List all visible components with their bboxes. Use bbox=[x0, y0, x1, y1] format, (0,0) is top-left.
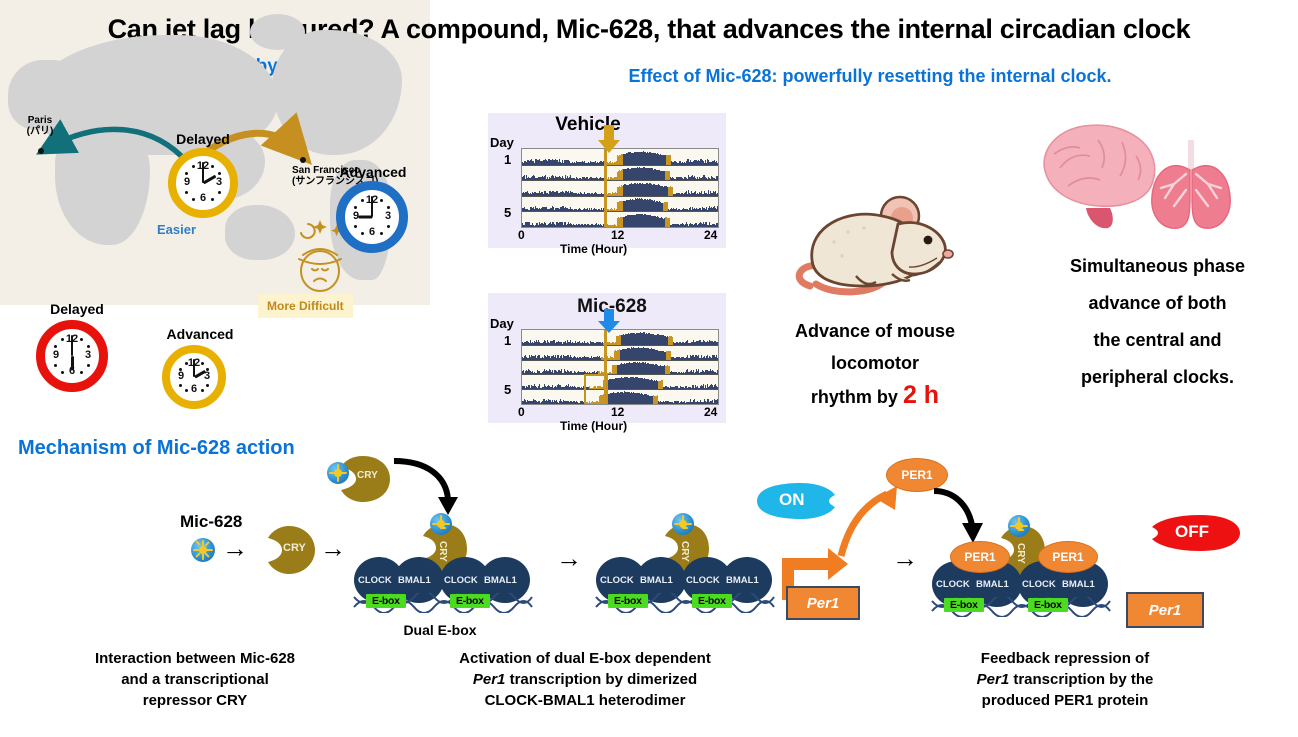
clock-label-1b: CLOCK bbox=[444, 575, 478, 586]
clock-minute-hand bbox=[371, 196, 374, 217]
organ-caption-line2: advance of both bbox=[1030, 285, 1285, 322]
ebox-3a: E-box bbox=[944, 598, 984, 612]
step-caption-3-gene: Per1 bbox=[977, 671, 1010, 688]
clock-numeral: 6 bbox=[187, 383, 201, 395]
mouse-caption: Advance of mouse locomotor rhythm by 2 h bbox=[750, 315, 1000, 413]
clock-tick bbox=[192, 198, 195, 201]
step-caption-3: Feedback repression of Per1 transcriptio… bbox=[900, 648, 1230, 711]
per1-protein-bound-right: PER1 bbox=[1038, 541, 1098, 573]
per1-gene-box-off: Per1 bbox=[1126, 592, 1204, 628]
clock-tick bbox=[87, 364, 90, 367]
step-caption-1-line1: Interaction between Mic-628 bbox=[30, 648, 360, 669]
actogram-day-row bbox=[522, 211, 718, 227]
easier-arc-label: Easier bbox=[157, 222, 196, 237]
actogram-plot-vehicle bbox=[521, 148, 719, 228]
ebox-1b: E-box bbox=[450, 594, 490, 608]
step-caption-2-line2-rest: transcription by dimerized bbox=[505, 671, 697, 688]
arrow-complex1-to-complex2: → bbox=[556, 545, 582, 571]
clock-state-3: Advanced bbox=[167, 326, 234, 342]
actogram-xtick-24-mic628: 24 bbox=[704, 405, 717, 419]
step-caption-2-line3: CLOCK-BMAL1 heterodimer bbox=[400, 690, 770, 711]
complex-feedback-repression: CRY PER1 PER1 CLOCK BMAL1 CLOCK BMAL1 E-… bbox=[930, 505, 1120, 620]
actogram-day-row bbox=[522, 374, 718, 390]
organ-caption-line1: Simultaneous phase bbox=[1030, 248, 1285, 285]
mouse-caption-line1: Advance of mouse bbox=[750, 315, 1000, 347]
clock-label-2a: CLOCK bbox=[600, 575, 634, 586]
clock-tick bbox=[380, 232, 383, 235]
actogram-day-row bbox=[522, 180, 718, 197]
organ-caption-line4: peripheral clocks. bbox=[1030, 359, 1285, 396]
clock-tick bbox=[354, 206, 357, 209]
clock-tokyo-advanced: 36912 bbox=[162, 345, 226, 409]
complex-dual-ebox-cry: CRY CLOCK BMAL1 CLOCK BMAL1 E-box E-box bbox=[352, 505, 542, 620]
actogram-ylabel-vehicle: Day bbox=[490, 135, 514, 150]
clock-numeral: 9 bbox=[180, 176, 194, 188]
bmal1-label-3b: BMAL1 bbox=[1062, 579, 1095, 590]
clock-tick bbox=[206, 384, 209, 387]
actogram-day-row bbox=[522, 345, 718, 361]
clock-label-1a: CLOCK bbox=[358, 575, 392, 586]
actogram-ytick-day1-mic628: 1 bbox=[504, 333, 511, 348]
clock-minute-hand bbox=[193, 359, 196, 377]
arrow-cry-to-complex: → bbox=[320, 535, 346, 561]
step-caption-1-line3: repressor CRY bbox=[30, 690, 360, 711]
clock-tick bbox=[54, 345, 57, 348]
actogram-xtick-0-mic628: 0 bbox=[518, 405, 525, 419]
clock-tick bbox=[192, 165, 195, 168]
clock-hour-hand bbox=[71, 356, 74, 370]
step-caption-1: Interaction between Mic-628 and a transc… bbox=[30, 648, 360, 711]
bmal1-label-3a: BMAL1 bbox=[976, 579, 1009, 590]
phase-advance-highlight-box bbox=[584, 374, 608, 405]
mouse-caption-line3-text: rhythm by bbox=[811, 387, 903, 407]
clock-numeral: 6 bbox=[365, 226, 379, 238]
actogram-day-row bbox=[522, 196, 718, 213]
actogram-day-row bbox=[522, 389, 718, 404]
clock-numeral: 3 bbox=[81, 349, 95, 361]
city-label-paris: Paris (パリ) bbox=[8, 115, 72, 137]
ebox-2a: E-box bbox=[608, 594, 648, 608]
ebox-3b: E-box bbox=[1028, 598, 1068, 612]
paris-name: Paris bbox=[28, 115, 52, 126]
clock-numeral: 6 bbox=[196, 192, 210, 204]
step-caption-2-gene: Per1 bbox=[473, 671, 506, 688]
mic628-molecule-on-complex-2 bbox=[672, 513, 694, 535]
bmal1-label-1b: BMAL1 bbox=[484, 575, 517, 586]
mechanism-section-heading: Mechanism of Mic-628 action bbox=[18, 437, 295, 460]
clock-tick bbox=[87, 345, 90, 348]
clock-state-2: Delayed bbox=[50, 301, 104, 317]
clock-tick bbox=[361, 199, 364, 202]
clock-sf-advanced: 36912 bbox=[336, 181, 408, 253]
step-caption-2-line1: Activation of dual E-box dependent bbox=[400, 648, 770, 669]
clock-tick bbox=[185, 172, 188, 175]
cry-label-complex-3: CRY bbox=[1015, 543, 1026, 564]
clock-state-1: Advanced bbox=[340, 164, 407, 180]
clock-tick bbox=[80, 338, 83, 341]
mouse-illustration bbox=[782, 188, 967, 313]
actogram-xtick-0-vehicle: 0 bbox=[518, 228, 525, 242]
on-badge-label: ON bbox=[779, 490, 805, 510]
actogram-day-row bbox=[522, 360, 718, 376]
actogram-xlabel-vehicle: Time (Hour) bbox=[560, 242, 627, 256]
mic628-molecule-on-complex-3 bbox=[1008, 515, 1030, 537]
actogram-xtick-12-mic628: 12 bbox=[611, 405, 624, 419]
actogram-xlabel-mic628: Time (Hour) bbox=[560, 419, 627, 433]
arrow-complex2-to-complex3: → bbox=[892, 545, 918, 571]
clock-tick bbox=[179, 368, 182, 371]
clock-tick bbox=[61, 371, 64, 374]
clock-tick bbox=[218, 172, 221, 175]
bmal1-label-2a: BMAL1 bbox=[640, 575, 673, 586]
organ-caption: Simultaneous phase advance of both the c… bbox=[1030, 248, 1285, 396]
clock-minute-hand bbox=[202, 162, 205, 183]
actogram-ytick-day5-mic628: 5 bbox=[504, 382, 511, 397]
mic628-free-label: Mic-628 bbox=[180, 512, 242, 532]
clock-tick bbox=[387, 225, 390, 228]
step-caption-3-line2-rest: transcription by the bbox=[1009, 671, 1153, 688]
actogram-title-vehicle: Vehicle bbox=[488, 114, 688, 136]
clock-tokyo-delayed: 36912 bbox=[168, 148, 238, 218]
ebox-1a: E-box bbox=[366, 594, 406, 608]
clock-tick bbox=[80, 371, 83, 374]
actogram-ytick-day5-vehicle: 5 bbox=[504, 205, 511, 220]
dosing-time-marker bbox=[604, 149, 607, 227]
step-caption-3-line2: Per1 transcription by the bbox=[900, 669, 1230, 690]
arrow-mic-to-cry: → bbox=[222, 535, 248, 561]
bmal1-label-2b: BMAL1 bbox=[726, 575, 759, 586]
step-caption-2-line2: Per1 transcription by dimerized bbox=[400, 669, 770, 690]
mic628-molecule-bound-floating bbox=[327, 462, 349, 484]
actogram-plot-mic628 bbox=[521, 329, 719, 405]
effect-section-heading: Effect of Mic-628: powerfully resetting … bbox=[520, 66, 1220, 87]
clock-minute-hand bbox=[71, 335, 74, 356]
dosing-arrow-mic628 bbox=[598, 309, 620, 333]
clock-label-2b: CLOCK bbox=[686, 575, 720, 586]
clock-state-0: Delayed bbox=[176, 131, 230, 147]
per1-gene-box-on: Per1 bbox=[786, 586, 860, 620]
clock-paris-delayed: 36912 bbox=[36, 320, 108, 392]
clock-tick bbox=[361, 232, 364, 235]
clock-tick bbox=[211, 198, 214, 201]
clock-tick bbox=[354, 225, 357, 228]
mic628-molecule-free bbox=[191, 538, 215, 562]
city-dot-san-francisco bbox=[300, 157, 306, 163]
step-caption-1-line2: and a transcriptional bbox=[30, 669, 360, 690]
clock-tick bbox=[61, 338, 64, 341]
clock-label-3a: CLOCK bbox=[936, 579, 970, 590]
complex-transcription-on: CRY CLOCK BMAL1 CLOCK BMAL1 E-box E-box bbox=[594, 505, 784, 620]
clock-tick bbox=[185, 191, 188, 194]
cry-label-bound-floating: CRY bbox=[357, 470, 378, 481]
actogram-day-row bbox=[522, 330, 718, 346]
clock-tick bbox=[387, 206, 390, 209]
step-caption-3-line3: produced PER1 protein bbox=[900, 690, 1230, 711]
organ-caption-line3: the central and bbox=[1030, 322, 1285, 359]
bmal1-label-1a: BMAL1 bbox=[398, 575, 431, 586]
dosing-arrow-vehicle bbox=[597, 125, 621, 153]
cry-label-free: CRY bbox=[283, 542, 306, 554]
mouse-caption-line2: locomotor bbox=[750, 347, 1000, 379]
clock-tick bbox=[185, 389, 188, 392]
advance-hours-highlight: 2 h bbox=[903, 381, 939, 409]
mic628-molecule-on-complex-1 bbox=[430, 513, 452, 535]
per1-protein-bound-left: PER1 bbox=[950, 541, 1010, 573]
brain-and-lungs-illustration bbox=[1028, 112, 1283, 237]
clock-numeral: 3 bbox=[381, 210, 395, 222]
clock-numeral: 9 bbox=[49, 349, 63, 361]
step-caption-3-line1: Feedback repression of bbox=[900, 648, 1230, 669]
actogram-ylabel-mic628: Day bbox=[490, 316, 514, 331]
clock-tick bbox=[211, 165, 214, 168]
more-difficult-label: More Difficult bbox=[258, 294, 353, 305]
paris-name-jp: (パリ) bbox=[27, 126, 54, 137]
clock-tick bbox=[179, 384, 182, 387]
dual-ebox-label: Dual E-box bbox=[370, 622, 510, 638]
clock-numeral: 9 bbox=[174, 370, 188, 382]
actogram-day-row bbox=[522, 165, 718, 182]
mouse-caption-line3: rhythm by 2 h bbox=[750, 379, 1000, 413]
off-badge-label: OFF bbox=[1175, 522, 1209, 542]
clock-tick bbox=[380, 199, 383, 202]
step-caption-2: Activation of dual E-box dependent Per1 … bbox=[400, 648, 770, 711]
clock-tick bbox=[218, 191, 221, 194]
actogram-xtick-24-vehicle: 24 bbox=[704, 228, 717, 242]
actogram-ytick-day1-vehicle: 1 bbox=[504, 152, 511, 167]
clock-label-3b: CLOCK bbox=[1022, 579, 1056, 590]
cry-label-complex-2: CRY bbox=[679, 541, 690, 562]
ebox-2b: E-box bbox=[692, 594, 732, 608]
clock-tick bbox=[54, 364, 57, 367]
cry-label-complex-1: CRY bbox=[437, 541, 448, 562]
city-dot-paris bbox=[38, 148, 44, 154]
actogram-xtick-12-vehicle: 12 bbox=[611, 228, 624, 242]
